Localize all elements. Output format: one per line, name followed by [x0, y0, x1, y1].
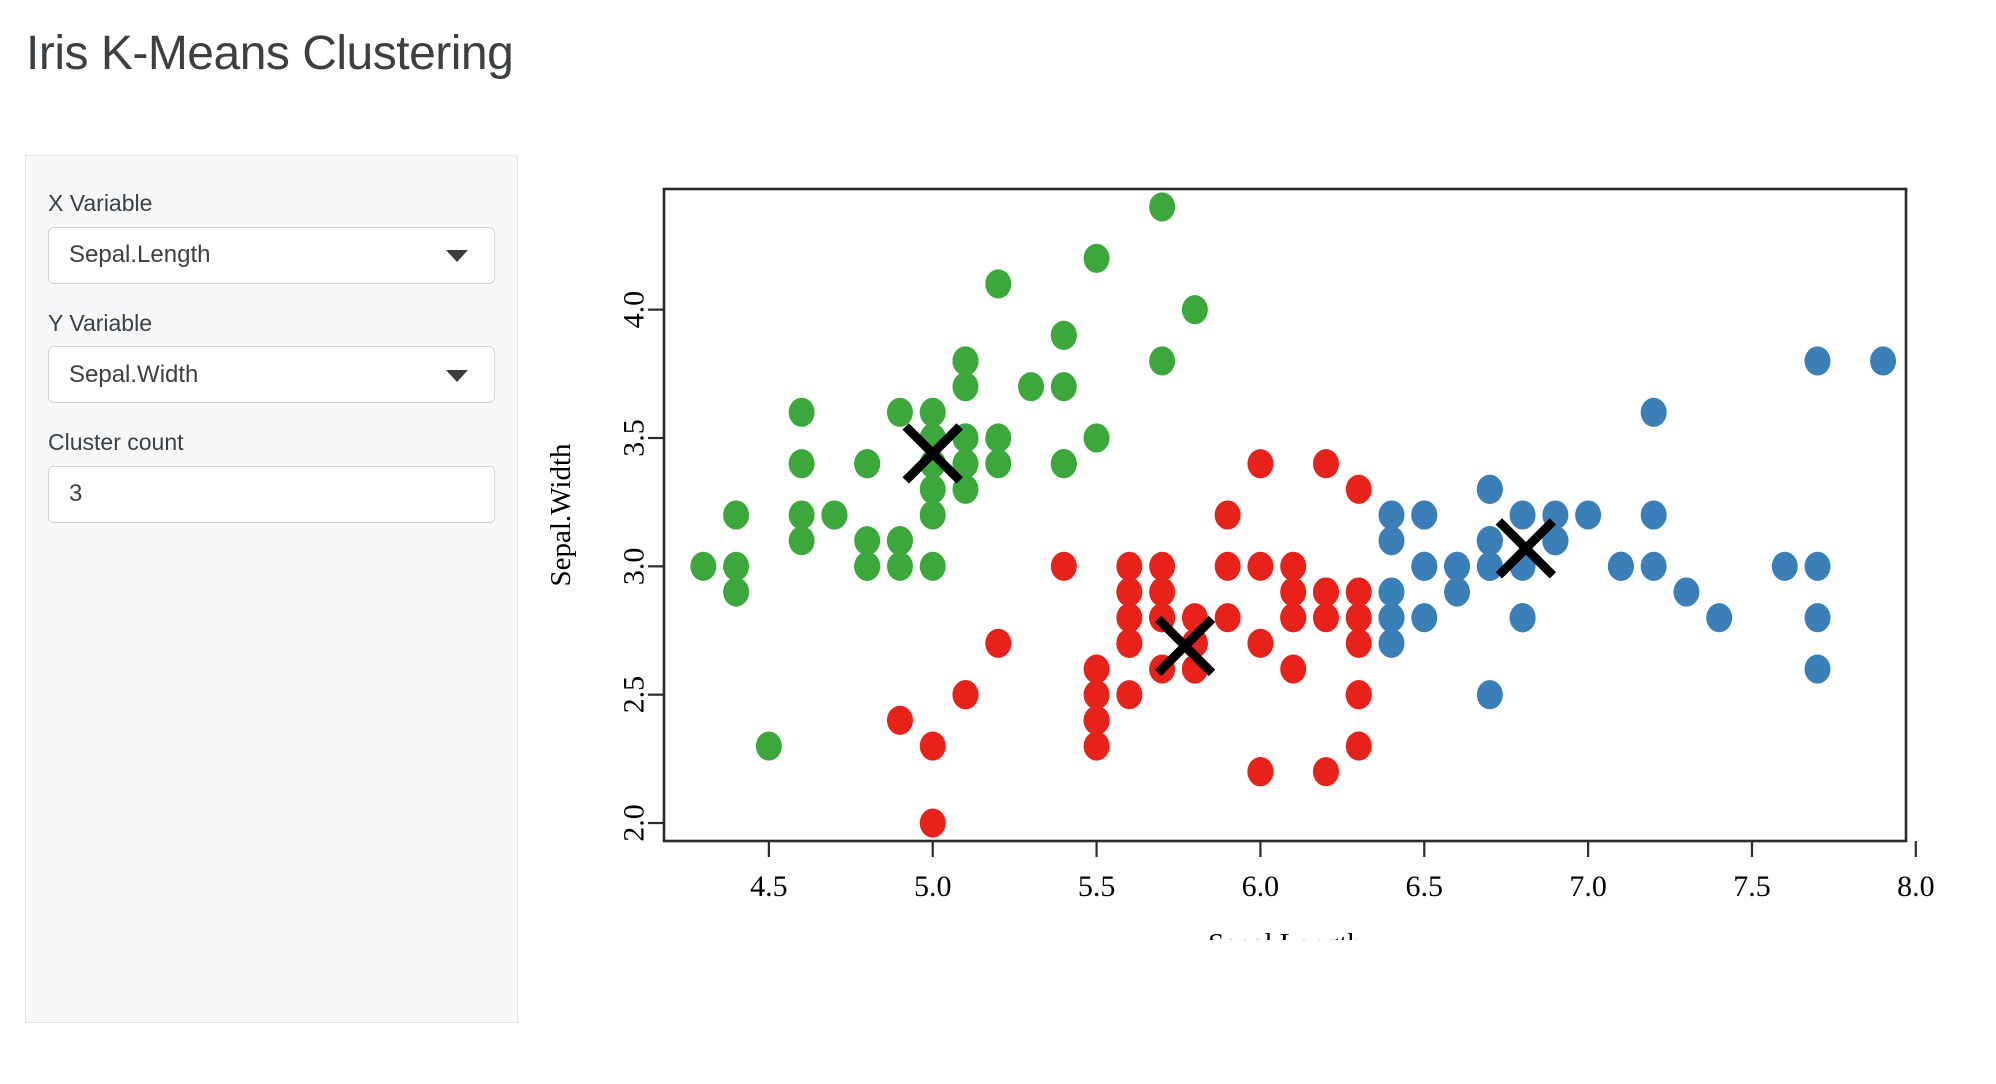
- data-point: [854, 552, 880, 581]
- data-point: [1411, 603, 1437, 632]
- data-point: [1149, 346, 1175, 375]
- x-axis-title: Sepal.Length: [1208, 928, 1362, 940]
- data-point: [1116, 603, 1142, 632]
- data-point: [1280, 654, 1306, 683]
- data-point: [952, 372, 978, 401]
- data-point: [1346, 629, 1372, 658]
- data-point: [1116, 552, 1142, 581]
- data-point: [1084, 423, 1110, 452]
- chevron-down-icon[interactable]: [446, 250, 468, 262]
- data-point: [1018, 372, 1044, 401]
- data-point: [887, 398, 913, 427]
- data-point: [1116, 680, 1142, 709]
- data-point: [1280, 577, 1306, 606]
- data-point: [1149, 192, 1175, 221]
- data-point: [1379, 629, 1405, 658]
- data-point: [1313, 757, 1339, 786]
- data-point: [985, 629, 1011, 658]
- y-axis-tick-label: 3.0: [618, 548, 651, 586]
- data-point: [1379, 603, 1405, 632]
- data-point: [887, 526, 913, 555]
- data-point: [920, 731, 946, 760]
- x-axis-tick-label: 8.0: [1897, 870, 1935, 903]
- data-point: [1313, 449, 1339, 478]
- x-axis-tick-label: 7.0: [1569, 870, 1607, 903]
- data-point: [789, 449, 815, 478]
- y-variable-label: Y Variable: [48, 310, 495, 338]
- data-point: [1084, 680, 1110, 709]
- data-point: [1280, 552, 1306, 581]
- cluster-count-value: 3: [69, 480, 82, 508]
- y-variable-select[interactable]: Sepal.Width: [48, 346, 495, 403]
- x-axis-tick-label: 7.5: [1733, 870, 1771, 903]
- data-point: [789, 398, 815, 427]
- data-point: [756, 731, 782, 760]
- scatter-plot: 4.55.05.56.06.57.07.58.02.02.53.03.54.0S…: [540, 150, 1960, 940]
- data-point: [1346, 603, 1372, 632]
- data-point: [1149, 577, 1175, 606]
- data-point: [1247, 449, 1273, 478]
- data-point: [1772, 552, 1798, 581]
- data-point: [1379, 577, 1405, 606]
- data-point: [1379, 526, 1405, 555]
- data-point: [1411, 552, 1437, 581]
- data-point: [1346, 475, 1372, 504]
- data-point: [1477, 526, 1503, 555]
- data-point: [1805, 654, 1831, 683]
- data-point: [1346, 680, 1372, 709]
- cluster-count-label: Cluster count: [48, 429, 495, 457]
- y-axis-tick-label: 2.5: [618, 676, 651, 714]
- y-axis-title: Sepal.Width: [545, 443, 577, 587]
- plot-frame: [664, 189, 1906, 841]
- data-point: [1641, 398, 1667, 427]
- control-group-x-variable: X Variable Sepal.Length: [48, 190, 495, 284]
- data-point: [985, 423, 1011, 452]
- data-point: [1247, 757, 1273, 786]
- data-point: [821, 500, 847, 529]
- x-variable-label: X Variable: [48, 190, 495, 218]
- x-variable-select[interactable]: Sepal.Length: [48, 227, 495, 284]
- x-axis-tick-label: 5.0: [914, 870, 952, 903]
- y-axis-tick-label: 2.0: [618, 804, 651, 842]
- controls-sidebar: X Variable Sepal.Length Y Variable Sepal…: [25, 155, 518, 1023]
- x-axis-tick-label: 6.0: [1242, 870, 1280, 903]
- data-point: [1346, 577, 1372, 606]
- y-axis-tick-label: 3.5: [618, 419, 651, 457]
- data-point: [1215, 552, 1241, 581]
- data-point: [690, 552, 716, 581]
- data-point: [1379, 500, 1405, 529]
- data-point: [1313, 577, 1339, 606]
- data-point: [1510, 500, 1536, 529]
- data-point: [854, 526, 880, 555]
- scatter-plot-svg: 4.55.05.56.06.57.07.58.02.02.53.03.54.0S…: [540, 150, 1960, 940]
- data-point: [1346, 731, 1372, 760]
- data-point: [1116, 629, 1142, 658]
- page-title: Iris K-Means Clustering: [26, 26, 513, 81]
- cluster-count-input[interactable]: 3: [48, 466, 495, 523]
- data-point: [1182, 295, 1208, 324]
- data-point: [1805, 552, 1831, 581]
- data-point: [1805, 603, 1831, 632]
- control-group-cluster-count: Cluster count 3: [48, 429, 495, 523]
- data-point: [1575, 500, 1601, 529]
- data-point: [1280, 603, 1306, 632]
- data-point: [952, 346, 978, 375]
- data-point: [1149, 552, 1175, 581]
- x-axis-tick-label: 5.5: [1078, 870, 1116, 903]
- data-point: [1051, 372, 1077, 401]
- data-point: [1805, 346, 1831, 375]
- data-point: [1444, 552, 1470, 581]
- chevron-down-icon[interactable]: [446, 370, 468, 382]
- data-point: [789, 500, 815, 529]
- data-point: [1215, 603, 1241, 632]
- data-point: [1870, 346, 1896, 375]
- data-point: [920, 475, 946, 504]
- data-point: [920, 398, 946, 427]
- data-point: [1084, 706, 1110, 735]
- data-point: [854, 449, 880, 478]
- data-point: [1444, 577, 1470, 606]
- data-point: [723, 500, 749, 529]
- data-point: [887, 552, 913, 581]
- data-points-layer: [690, 192, 1896, 837]
- data-point: [789, 526, 815, 555]
- x-axis-tick-label: 6.5: [1406, 870, 1444, 903]
- data-point: [952, 680, 978, 709]
- data-point: [1641, 552, 1667, 581]
- y-axis-tick-label: 4.0: [618, 291, 651, 329]
- data-point: [1247, 629, 1273, 658]
- data-point: [1051, 449, 1077, 478]
- x-variable-selected-value: Sepal.Length: [69, 241, 210, 269]
- data-point: [723, 552, 749, 581]
- data-point: [985, 269, 1011, 298]
- data-point: [1477, 475, 1503, 504]
- data-point: [723, 577, 749, 606]
- data-point: [1051, 321, 1077, 350]
- control-group-y-variable: Y Variable Sepal.Width: [48, 310, 495, 404]
- data-point: [1510, 603, 1536, 632]
- data-point: [920, 808, 946, 837]
- data-point: [920, 500, 946, 529]
- data-point: [1247, 552, 1273, 581]
- data-point: [1084, 654, 1110, 683]
- data-point: [1313, 603, 1339, 632]
- data-point: [1215, 500, 1241, 529]
- y-variable-selected-value: Sepal.Width: [69, 361, 198, 389]
- data-point: [1673, 577, 1699, 606]
- data-point: [1706, 603, 1732, 632]
- data-point: [887, 706, 913, 735]
- data-point: [985, 449, 1011, 478]
- data-point: [1051, 552, 1077, 581]
- data-point: [1084, 244, 1110, 273]
- x-axis-tick-label: 4.5: [750, 870, 788, 903]
- data-point: [1477, 680, 1503, 709]
- data-point: [1084, 731, 1110, 760]
- data-point: [1477, 552, 1503, 581]
- data-point: [1411, 500, 1437, 529]
- data-point: [1641, 500, 1667, 529]
- data-point: [1608, 552, 1634, 581]
- data-point: [920, 552, 946, 581]
- data-point: [1116, 577, 1142, 606]
